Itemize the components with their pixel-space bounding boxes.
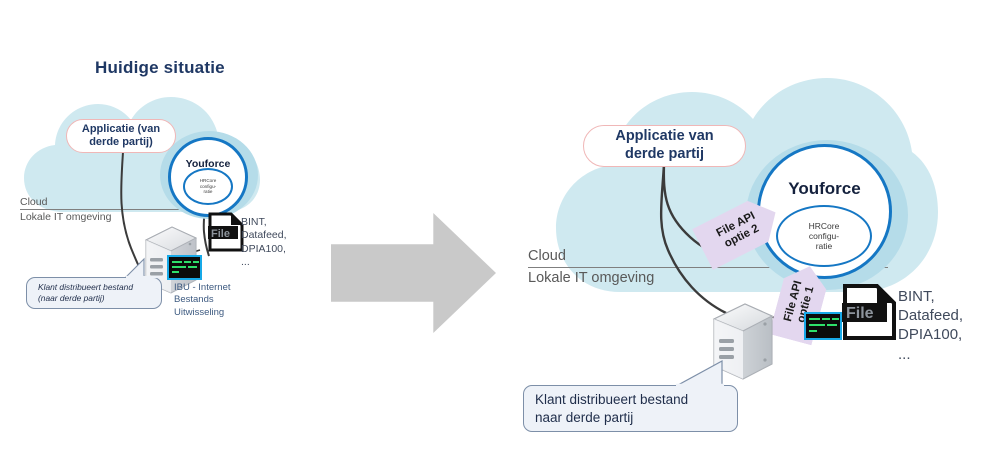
right-file-types-label: BINT, Datafeed, DPIA100, ...	[898, 287, 963, 364]
file-api-option-2-label: File API optie 2	[714, 210, 763, 253]
right-youforce-label: Youforce	[760, 179, 889, 199]
left-file-types-label: BINT, Datafeed, DPIA100, ...	[241, 216, 287, 270]
left-third-party-app-label: Applicatie (van derde partij)	[82, 123, 160, 150]
right-terminal-icon	[804, 312, 842, 340]
right-callout-text: Klant distribueert bestand naar derde pa…	[535, 385, 730, 432]
right-hrcore-circle[interactable]: HRCore configu- ratie	[776, 205, 872, 267]
left-file-icon: File	[208, 212, 244, 257]
left-ibu-label: IBU - Internet Bestands Uitwisseling	[174, 282, 231, 319]
right-server-icon	[705, 300, 777, 387]
right-callout-balloon: Klant distribueert bestand naar derde pa…	[523, 385, 738, 432]
right-third-party-app-label: Applicatie van derde partij	[615, 128, 713, 163]
left-terminal-icon	[167, 255, 202, 280]
left-panel-title: Huidige situatie	[95, 58, 225, 78]
diagram-canvas: Huidige situatie Cloud Lokale IT omgevin…	[0, 0, 998, 460]
right-file-icon: File	[842, 283, 897, 346]
left-hrcore-label: HRCore configu- ratie	[200, 178, 217, 194]
right-third-party-app-box[interactable]: Applicatie van derde partij	[583, 125, 746, 167]
left-third-party-app-box[interactable]: Applicatie (van derde partij)	[66, 119, 176, 153]
svg-text:File: File	[211, 228, 230, 240]
left-callout-text: Klant distribueert bestand (naar derde p…	[38, 277, 154, 309]
svg-text:File: File	[846, 305, 874, 322]
left-hrcore-circle[interactable]: HRCore configu- ratie	[183, 168, 233, 205]
left-callout-balloon: Klant distribueert bestand (naar derde p…	[26, 277, 162, 309]
transition-arrow-icon	[331, 213, 496, 333]
right-hrcore-label: HRCore configu- ratie	[809, 221, 840, 251]
